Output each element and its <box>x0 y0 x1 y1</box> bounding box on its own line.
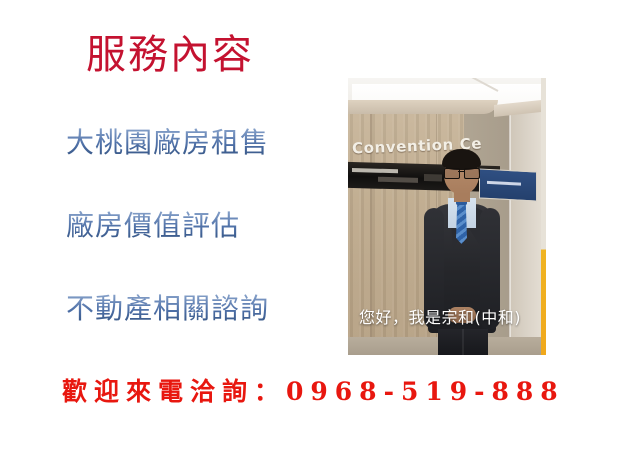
service-item-1: 大桃園廠房租售 <box>66 127 269 159</box>
glasses-lens-left <box>444 168 460 179</box>
band-highlight-1 <box>352 168 398 173</box>
band-highlight-2 <box>378 177 418 183</box>
page-title: 服務內容 <box>86 33 254 77</box>
photo-caption: 您好，我是宗和(中和) <box>359 304 521 328</box>
necktie <box>456 200 467 244</box>
glasses-lens-right <box>464 168 480 179</box>
trousers <box>438 329 488 355</box>
hair <box>442 149 481 170</box>
glasses-icon <box>444 168 480 177</box>
slide-canvas: 服務內容 大桃園廠房租售 廠房價值評估 不動產相關諮詢 歡迎來電洽詢：0968-… <box>0 0 640 451</box>
photo-right-edge-strip <box>541 78 546 355</box>
cornice-left <box>348 100 498 114</box>
service-item-2: 廠房價值評估 <box>66 210 240 242</box>
service-item-3: 不動產相關諮詢 <box>66 293 269 325</box>
contact-phone-line: 歡迎來電洽詢：0968-519-888 <box>62 372 565 408</box>
